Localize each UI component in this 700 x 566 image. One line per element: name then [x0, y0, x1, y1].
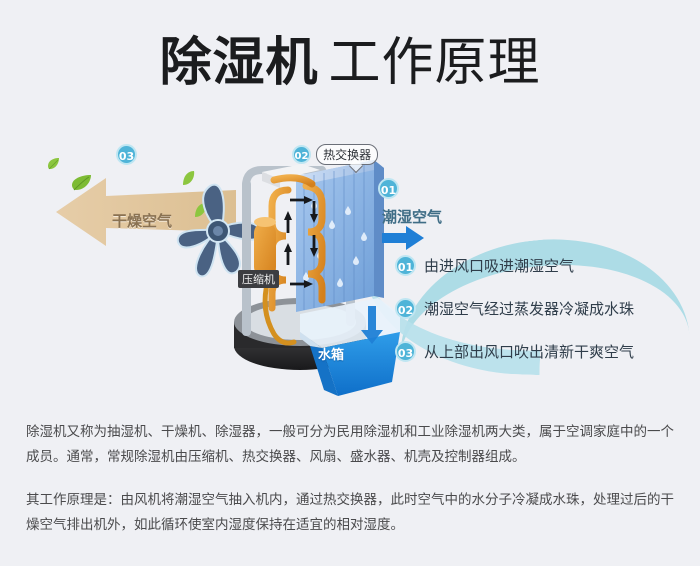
legend-badge-03: 03 [395, 341, 416, 362]
paragraph-principle: 其工作原理是：由风机将潮湿空气抽入机内，通过热交换器，此时空气中的水分子冷凝成水… [26, 488, 676, 538]
heat-exchanger-bubble-label: 热交换器 [316, 144, 378, 165]
legend-list: 01 由进风口吸进潮湿空气 02 潮湿空气经过蒸发器冷凝成水珠 03 从上部出风… [395, 255, 695, 384]
dry-air-label: 干燥空气 [112, 210, 172, 231]
legend-text-03: 从上部出风口吹出清新干爽空气 [424, 341, 634, 362]
heat-exchanger-callout: 02 热交换器 [292, 144, 378, 165]
page-title-thin: 工作原理 [329, 33, 541, 93]
leaf-icon-small [46, 156, 60, 175]
water-tank-label: 水箱 [318, 344, 344, 363]
legend-item-02: 02 潮湿空气经过蒸发器冷凝成水珠 [395, 298, 695, 319]
legend-badge-02: 02 [395, 298, 416, 319]
legend-text-02: 潮湿空气经过蒸发器冷凝成水珠 [424, 298, 634, 319]
legend-badge-01: 01 [395, 255, 416, 276]
dehumidifier-infographic: 除湿机工作原理 [0, 0, 700, 566]
badge-03-dry-air: 03 [116, 144, 137, 165]
page-title-bold: 除湿机 [159, 33, 318, 93]
compressor-label: 压缩机 [238, 270, 279, 288]
humid-air-label: 潮湿空气 [382, 206, 442, 227]
legend-item-01: 01 由进风口吸进潮湿空气 [395, 255, 695, 276]
paragraph-definition: 除湿机又称为抽湿机、干燥机、除湿器，一般可分为民用除湿机和工业除湿机两大类，属于… [26, 420, 676, 470]
legend-text-01: 由进风口吸进潮湿空气 [424, 255, 574, 276]
page-title: 除湿机工作原理 [0, 34, 700, 92]
body-copy: 除湿机又称为抽湿机、干燥机、除湿器，一般可分为民用除湿机和工业除湿机两大类，属于… [26, 420, 676, 538]
leaf-icon-medium [70, 174, 92, 196]
badge-02-heat-exchanger: 02 [292, 145, 311, 164]
legend-item-03: 03 从上部出风口吹出清新干爽空气 [395, 341, 695, 362]
badge-01-humid-air: 01 [378, 178, 399, 199]
